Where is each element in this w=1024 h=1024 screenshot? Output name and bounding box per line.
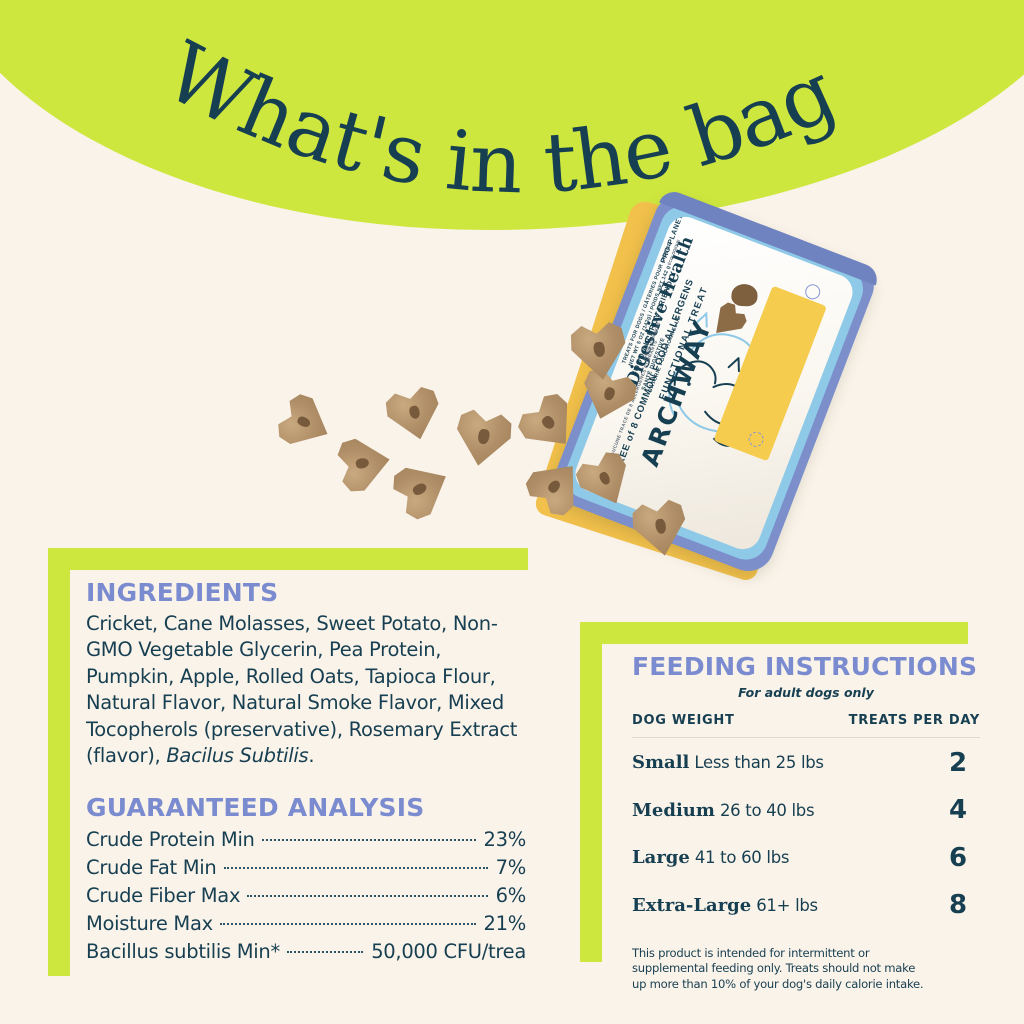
dog-weight-cell: SmallLess than 25 lbs (632, 752, 824, 773)
treat-piece (334, 432, 395, 496)
dog-weight-range: 26 to 40 lbs (720, 801, 814, 820)
analysis-value: 21% (484, 910, 526, 938)
feeding-disclaimer: This product is intended for intermitten… (632, 946, 932, 992)
dog-size-label: Extra-Large (632, 895, 751, 916)
analysis-row: Crude Fat Min 7% (86, 854, 526, 882)
treats-count: 8 (936, 890, 980, 920)
treats-count: 4 (936, 795, 980, 825)
feeding-table-body: SmallLess than 25 lbs 2 Medium26 to 40 l… (632, 738, 980, 928)
treat-piece (271, 388, 340, 458)
feeding-frame-left (580, 622, 602, 962)
feeding-subtitle: For adult dogs only (632, 685, 980, 700)
treat-piece (450, 405, 517, 470)
ingredients-body-italic: Bacilus Subtilis (166, 744, 308, 767)
dog-weight-cell: Extra-Large61+ lbs (632, 895, 818, 916)
table-row: Large41 to 60 lbs 6 (632, 833, 980, 881)
hero-green-blob (0, 0, 1024, 230)
bag-treat-photo-top (731, 283, 758, 306)
analysis-label: Moisture Max (86, 910, 213, 938)
column-header-dog-weight: DOG WEIGHT (632, 713, 735, 728)
feeding-instructions-panel: FEEDING INSTRUCTIONS For adult dogs only… (632, 652, 980, 992)
dog-weight-range: 41 to 60 lbs (695, 848, 789, 867)
dog-weight-range: Less than 25 lbs (694, 753, 823, 772)
column-header-treats-per-day: TREATS PER DAY (849, 713, 980, 728)
analysis-label: Crude Protein Min (86, 826, 255, 854)
dog-weight-cell: Large41 to 60 lbs (632, 847, 789, 868)
analysis-row: Moisture Max 21% (86, 910, 526, 938)
ingredients-panel: INGREDIENTS Cricket, Cane Molasses, Swee… (86, 578, 526, 966)
treat-piece (385, 452, 459, 527)
ingredients-body: Cricket, Cane Molasses, Sweet Potato, No… (86, 611, 526, 769)
treat-piece (381, 382, 448, 446)
ingredients-body-tail: . (308, 744, 314, 767)
ingredients-frame-top (48, 548, 528, 570)
analysis-row: Crude Protein Min 23% (86, 826, 526, 854)
analysis-row: Bacillus subtilis Min* 50,000 CFU/trea (86, 938, 526, 966)
dog-size-label: Large (632, 847, 690, 868)
analysis-label: Crude Fiber Max (86, 882, 240, 910)
analysis-leader (220, 923, 476, 925)
analysis-leader (247, 895, 487, 897)
analysis-value: 23% (484, 826, 526, 854)
dog-weight-range: 61+ lbs (756, 896, 818, 915)
treats-count: 6 (936, 843, 980, 873)
table-row: Extra-Large61+ lbs 8 (632, 881, 980, 929)
analysis-label: Bacillus subtilis Min* (86, 938, 280, 966)
dog-weight-cell: Medium26 to 40 lbs (632, 800, 814, 821)
analysis-label: Crude Fat Min (86, 854, 217, 882)
analysis-row: Crude Fiber Max 6% (86, 882, 526, 910)
treats-count: 2 (936, 748, 980, 778)
dog-size-label: Small (632, 752, 689, 773)
analysis-value: 7% (496, 854, 526, 882)
dog-size-label: Medium (632, 800, 715, 821)
analysis-value: 6% (496, 882, 526, 910)
analysis-leader (287, 951, 363, 953)
analysis-leader (262, 839, 476, 841)
infographic-canvas: What's in the bag? (0, 0, 1024, 1024)
feeding-title: FEEDING INSTRUCTIONS (632, 652, 980, 681)
table-row: SmallLess than 25 lbs 2 (632, 738, 980, 786)
guaranteed-analysis-list: Crude Protein Min 23% Crude Fat Min 7% C… (86, 826, 526, 966)
feeding-table-header: DOG WEIGHT TREATS PER DAY (632, 713, 980, 738)
ingredients-frame-left (48, 548, 70, 976)
analysis-leader (224, 867, 488, 869)
ingredients-title: INGREDIENTS (86, 578, 526, 607)
product-bag-photo: Digestive Health SANTÉ DIGESTIVE GÂTERIE… (540, 210, 1010, 600)
table-row: Medium26 to 40 lbs 4 (632, 786, 980, 834)
feeding-frame-top (580, 622, 968, 644)
analysis-value: 50,000 CFU/trea (371, 938, 526, 966)
guaranteed-analysis-title: GUARANTEED ANALYSIS (86, 793, 526, 822)
